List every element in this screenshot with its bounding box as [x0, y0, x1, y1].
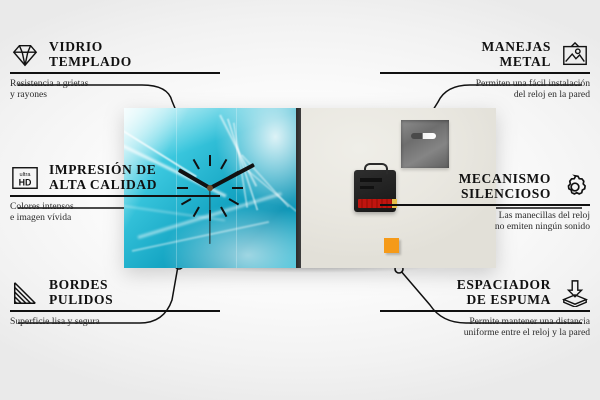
- feature-desc-line1: Colores intensos: [10, 201, 74, 212]
- callout-foam-spacer: ESPACIADOR DE ESPUMA Permite mantener un…: [380, 278, 590, 339]
- feature-title-line1: BORDES: [49, 277, 108, 292]
- feature-title-line2: TEMPLADO: [49, 54, 132, 69]
- feature-desc-line2: e imagen vívida: [10, 212, 71, 223]
- feature-desc-line2: uniforme entre el reloj y la pared: [464, 327, 590, 338]
- metal-hanger-plate: [401, 120, 449, 168]
- feature-title-line1: MANEJAS: [482, 39, 551, 54]
- feature-title-line2: METAL: [499, 54, 551, 69]
- ultra-hd-icon: ultra HD: [10, 164, 40, 192]
- polished-edge-icon: [10, 279, 40, 307]
- feature-title-line2: DE ESPUMA: [466, 292, 551, 307]
- callout-hd-print: ultra HD IMPRESIÓN DE ALTA CALIDAD Color…: [10, 163, 220, 224]
- feature-desc-line1: Superficie lisa y segura: [10, 316, 100, 327]
- divider: [10, 195, 220, 197]
- feature-title-line2: PULIDOS: [49, 292, 113, 307]
- feature-title-line2: SILENCIOSO: [461, 186, 551, 201]
- callout-polished-edges: BORDES PULIDOS Superficie lisa y segura: [10, 278, 220, 327]
- svg-text:HD: HD: [19, 177, 32, 187]
- feature-desc-line2: y rayones: [10, 89, 47, 100]
- foam-spacer-pad: [384, 238, 399, 253]
- infographic-canvas: VIDRIO TEMPLADO Resistencia a grietas y …: [0, 0, 600, 400]
- callout-metal-handles: MANEJAS METAL Permiten una fácil instala…: [380, 40, 590, 101]
- picture-frame-icon: [560, 41, 590, 69]
- arrow-down-pad-icon: [560, 279, 590, 307]
- feature-desc-line2: del reloj en la pared: [514, 89, 590, 100]
- divider: [10, 310, 220, 312]
- feature-title-line1: MECANISMO: [459, 171, 551, 186]
- callout-tempered-glass: VIDRIO TEMPLADO Resistencia a grietas y …: [10, 40, 220, 101]
- feature-title-line2: ALTA CALIDAD: [49, 177, 157, 192]
- feature-desc-line1: Las manecillas del reloj: [499, 210, 590, 221]
- divider: [10, 72, 220, 74]
- gear-icon: [560, 173, 590, 201]
- feature-title-line1: IMPRESIÓN DE: [49, 162, 156, 177]
- feature-title-line1: VIDRIO: [49, 39, 103, 54]
- diamond-icon: [10, 41, 40, 69]
- feature-desc-line1: Permite mantener una distancia: [469, 316, 590, 327]
- feature-desc-line1: Resistencia a grietas: [10, 78, 88, 89]
- feature-desc-line1: Permiten una fácil instalación: [476, 78, 590, 89]
- feature-title-line1: ESPACIADOR: [457, 277, 551, 292]
- feature-desc-line2: no emiten ningún sonido: [495, 221, 590, 232]
- callout-silent-mechanism: MECANISMO SILENCIOSO Las manecillas del …: [380, 172, 590, 233]
- divider: [380, 310, 590, 312]
- divider: [380, 72, 590, 74]
- divider: [380, 204, 590, 206]
